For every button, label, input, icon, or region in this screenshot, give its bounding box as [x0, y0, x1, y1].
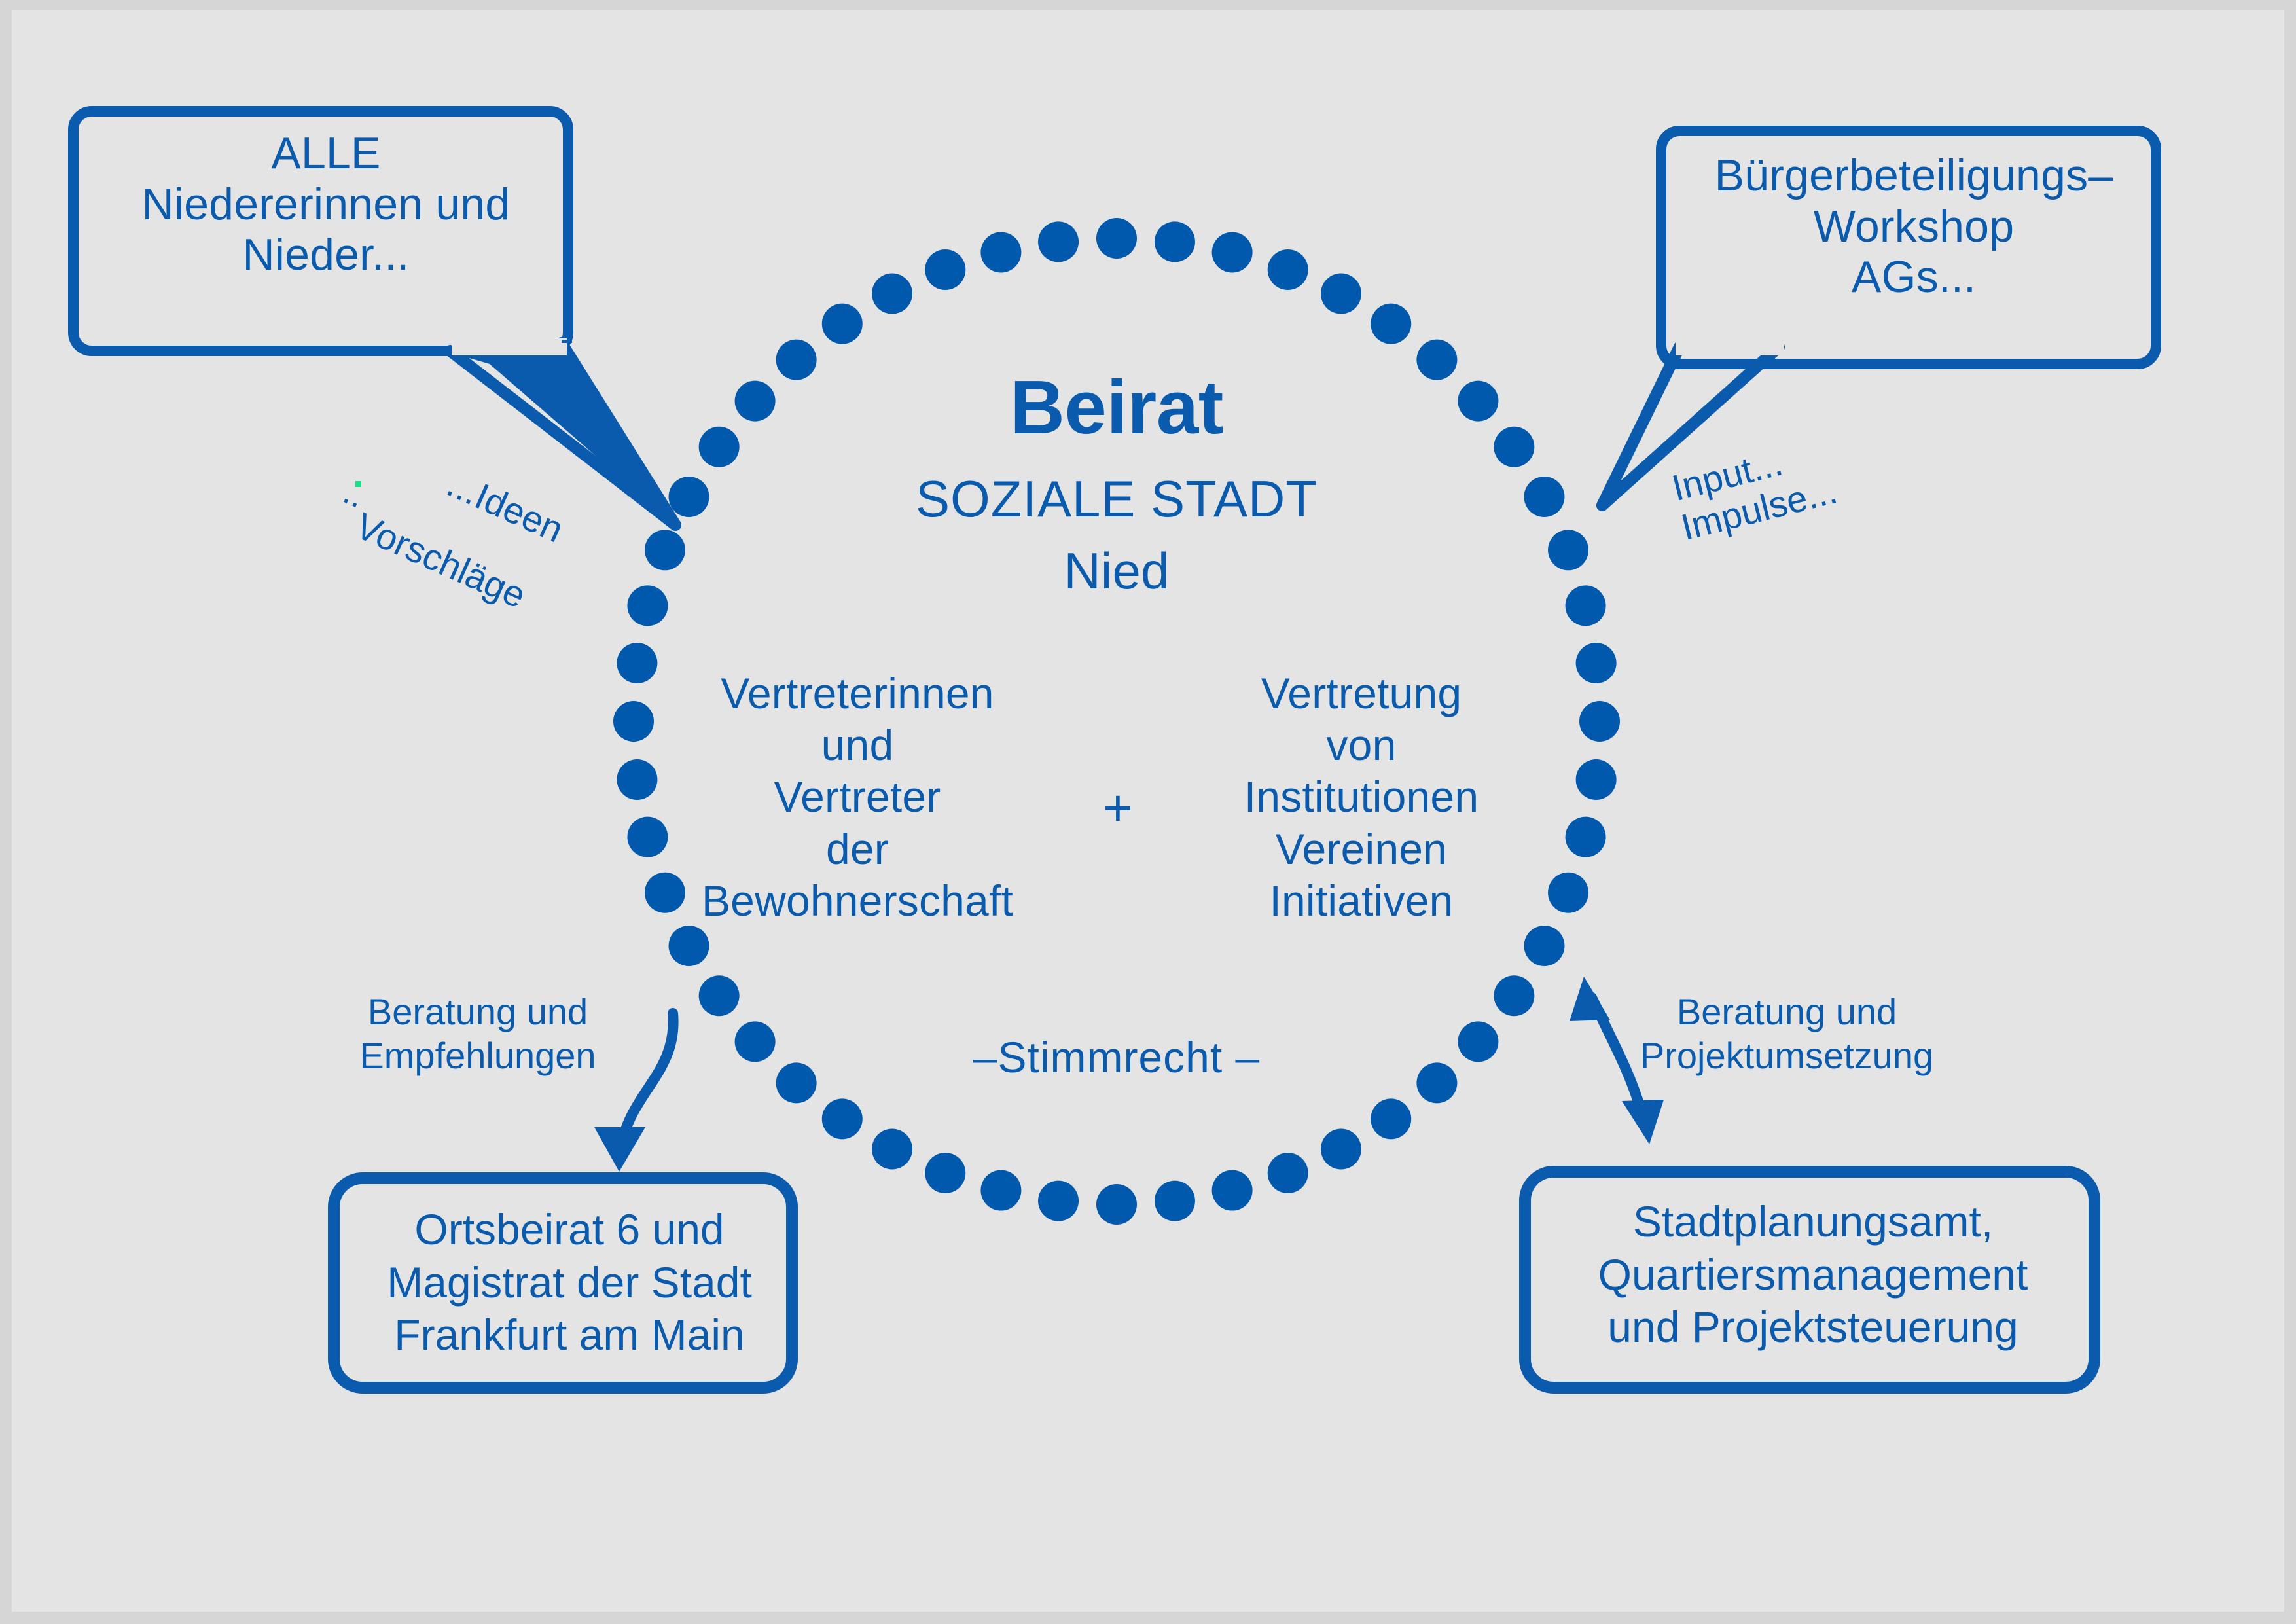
circle-dot: [822, 1098, 863, 1139]
circle-dot: [822, 304, 863, 344]
circle-column-left: Vertreterinnen und Vertreter der Bewohne…: [655, 668, 1060, 927]
circle-dot: [1371, 1098, 1411, 1139]
circle-dot: [699, 975, 740, 1016]
circle-subtitle-line1: SOZIALE STADT: [789, 470, 1444, 528]
circle-dot: [1458, 381, 1498, 422]
circle-dot: [1548, 530, 1588, 570]
circle-dot: [1096, 1184, 1137, 1225]
circle-dot: [617, 759, 657, 800]
circle-subtitle-line2: Nied: [789, 542, 1444, 600]
circle-dot: [617, 643, 657, 683]
circle-dot: [1579, 701, 1620, 742]
circle-dot: [1268, 1153, 1308, 1193]
circle-dot: [1038, 1181, 1079, 1221]
box-stadtplanungsamt-label: Stadtplanungsamt, Quartiersmanagement un…: [1532, 1195, 2094, 1354]
circle-dot: [1038, 221, 1079, 262]
circle-dot: [1524, 926, 1564, 966]
circle-dot: [669, 926, 709, 966]
circle-title: Beirat: [789, 364, 1444, 450]
circle-dot: [1416, 1062, 1457, 1103]
circle-dot: [872, 274, 912, 314]
diagram-canvas: ALLE Niedererinnen und Nieder... Bürgerb…: [0, 0, 2296, 1624]
circle-dot: [925, 249, 965, 290]
circle-dot: [1155, 1181, 1195, 1221]
circle-dot: [699, 427, 740, 467]
circle-column-right: Vertretung von Institutionen Vereinen In…: [1178, 668, 1545, 927]
box-ortsbeirat-label: Ortsbeirat 6 und Magistrat der Stadt Fra…: [340, 1203, 798, 1362]
circle-dot: [925, 1153, 965, 1193]
label-beratung-empfehlungen: Beratung und Empfehlungen: [334, 990, 622, 1077]
circle-dot: [613, 701, 654, 742]
circle-dot: [776, 1062, 817, 1103]
circle-dot: [669, 477, 709, 517]
circle-dot: [1576, 643, 1617, 683]
circle-dot: [1494, 975, 1534, 1016]
circle-dot: [872, 1128, 912, 1169]
green-pixel-marker: [355, 481, 361, 487]
circle-dot: [1371, 304, 1411, 344]
circle-dot: [1155, 221, 1195, 262]
circle-dot: [1566, 817, 1606, 857]
circle-dot: [980, 232, 1021, 272]
circle-dot: [1566, 585, 1606, 626]
circle-dot: [980, 1170, 1021, 1211]
circle-dot: [1321, 1128, 1361, 1169]
speech-bubble-left-label: ALLE Niedererinnen und Nieder...: [97, 128, 555, 281]
label-beratung-projektumsetzung: Beratung und Projektumsetzung: [1623, 990, 1950, 1077]
circle-dot: [1321, 274, 1361, 314]
circle-dot: [1576, 759, 1617, 800]
circle-dot: [1548, 873, 1588, 913]
speech-bubble-right-label: Bürgerbeteiligungs– Workshop AGs...: [1685, 151, 2143, 303]
circle-dot: [735, 1021, 776, 1062]
circle-dot: [1494, 427, 1534, 467]
circle-dot: [627, 585, 668, 626]
circle-dot: [1212, 232, 1253, 272]
circle-dot: [1268, 249, 1308, 290]
stimmrecht-label: –Stimmrecht –: [920, 1033, 1313, 1082]
circle-dot: [1458, 1021, 1498, 1062]
circle-dot: [645, 530, 685, 570]
circle-dot: [735, 381, 776, 422]
plus-operator: +: [1079, 779, 1157, 837]
circle-dot: [1524, 477, 1564, 517]
circle-dot: [1212, 1170, 1253, 1211]
circle-dot: [1096, 218, 1137, 259]
